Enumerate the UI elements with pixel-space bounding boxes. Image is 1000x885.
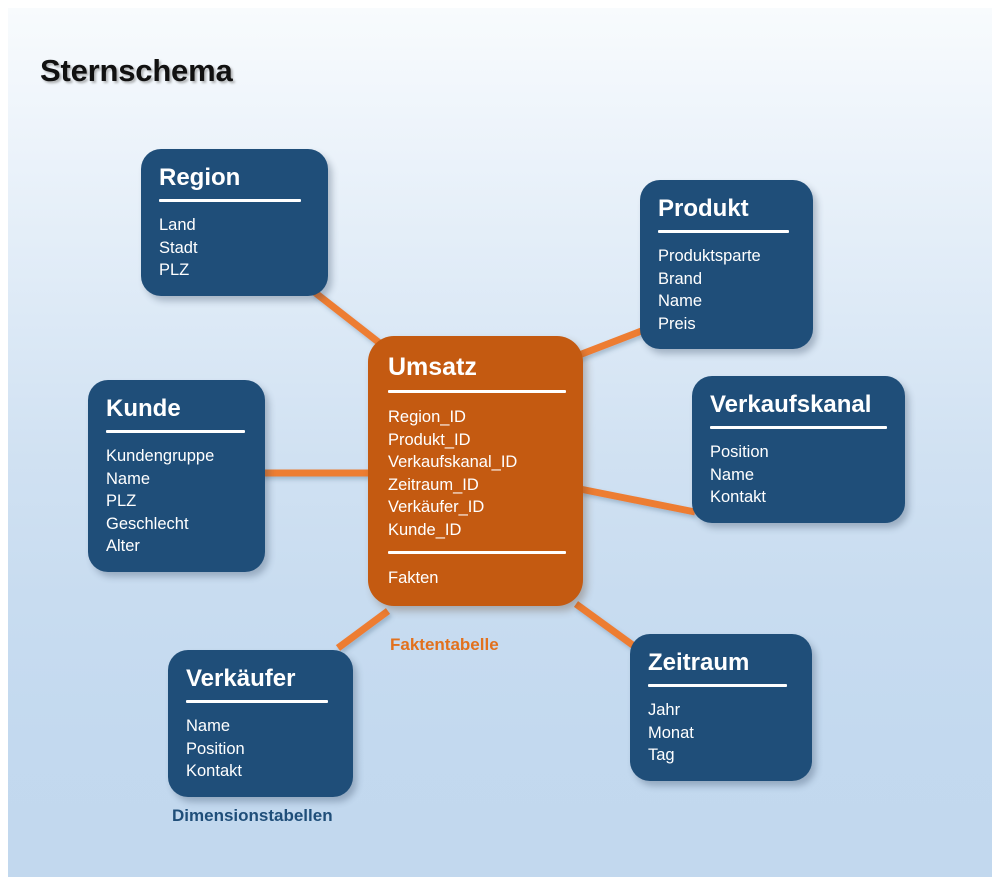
field-item: Kundengruppe <box>106 445 247 468</box>
field-list: Position Name Kontakt <box>710 441 887 509</box>
field-item: Land <box>159 214 310 237</box>
field-item: Produktsparte <box>658 245 795 268</box>
title-divider <box>186 700 328 703</box>
diagram-canvas: Sternschema Region Land Stadt PLZ Produk… <box>8 8 992 877</box>
fact-table-umsatz[interactable]: Umsatz Region_ID Produkt_ID Verkaufskana… <box>368 336 583 606</box>
field-item: Geschlecht <box>106 513 247 536</box>
field-list: Jahr Monat Tag <box>648 699 794 767</box>
dimension-table-region[interactable]: Region Land Stadt PLZ <box>141 149 328 296</box>
field-item: Name <box>658 290 795 313</box>
connector-region-umsatz <box>313 291 386 348</box>
title-divider <box>159 199 301 202</box>
dimension-table-verkaeufer[interactable]: Verkäufer Name Position Kontakt <box>168 650 353 797</box>
key-field-list: Region_ID Produkt_ID Verkaufskanal_ID Ze… <box>388 406 563 541</box>
field-item: Verkäufer_ID <box>388 496 563 519</box>
field-item: Jahr <box>648 699 794 722</box>
field-item: Kontakt <box>186 760 335 783</box>
dimension-table-verkaufskanal[interactable]: Verkaufskanal Position Name Kontakt <box>692 376 905 523</box>
connector-produkt-umsatz <box>574 330 644 357</box>
connector-verkaeufer-umsatz <box>338 611 388 648</box>
table-title: Verkaufskanal <box>710 392 887 417</box>
dimension-table-zeitraum[interactable]: Zeitraum Jahr Monat Tag <box>630 634 812 781</box>
dimension-table-kunde[interactable]: Kunde Kundengruppe Name PLZ Geschlecht A… <box>88 380 265 572</box>
title-divider <box>710 426 887 429</box>
field-item: Brand <box>658 268 795 291</box>
field-list: Kundengruppe Name PLZ Geschlecht Alter <box>106 445 247 558</box>
connector-verkaufskanal-umsatz <box>580 489 695 512</box>
measures-divider <box>388 551 566 554</box>
field-item: Produkt_ID <box>388 429 563 452</box>
title-divider <box>658 230 789 233</box>
table-title: Region <box>159 165 310 190</box>
table-title: Verkäufer <box>186 666 335 691</box>
field-item: Alter <box>106 535 247 558</box>
measure-list: Fakten <box>388 567 563 590</box>
title-divider <box>388 390 566 393</box>
field-item: Monat <box>648 722 794 745</box>
title-divider <box>106 430 245 433</box>
field-list: Produktsparte Brand Name Preis <box>658 245 795 335</box>
field-item: Fakten <box>388 567 563 590</box>
field-item: PLZ <box>159 259 310 282</box>
dimension-table-produkt[interactable]: Produkt Produktsparte Brand Name Preis <box>640 180 813 349</box>
field-item: Preis <box>658 313 795 336</box>
field-item: Name <box>106 468 247 491</box>
table-title: Umsatz <box>388 354 563 380</box>
fact-table-caption: Faktentabelle <box>390 635 499 655</box>
field-item: Kunde_ID <box>388 519 563 542</box>
field-item: Stadt <box>159 237 310 260</box>
dimension-tables-caption: Dimensionstabellen <box>172 806 333 826</box>
field-item: Position <box>186 738 335 761</box>
table-title: Zeitraum <box>648 650 794 675</box>
field-list: Land Stadt PLZ <box>159 214 310 282</box>
field-list: Name Position Kontakt <box>186 715 335 783</box>
table-title: Produkt <box>658 196 795 221</box>
field-item: Name <box>186 715 335 738</box>
field-item: Position <box>710 441 887 464</box>
field-item: PLZ <box>106 490 247 513</box>
field-item: Kontakt <box>710 486 887 509</box>
field-item: Tag <box>648 744 794 767</box>
table-title: Kunde <box>106 396 247 421</box>
field-item: Verkaufskanal_ID <box>388 451 563 474</box>
title-divider <box>648 684 787 687</box>
field-item: Region_ID <box>388 406 563 429</box>
field-item: Name <box>710 464 887 487</box>
field-item: Zeitraum_ID <box>388 474 563 497</box>
